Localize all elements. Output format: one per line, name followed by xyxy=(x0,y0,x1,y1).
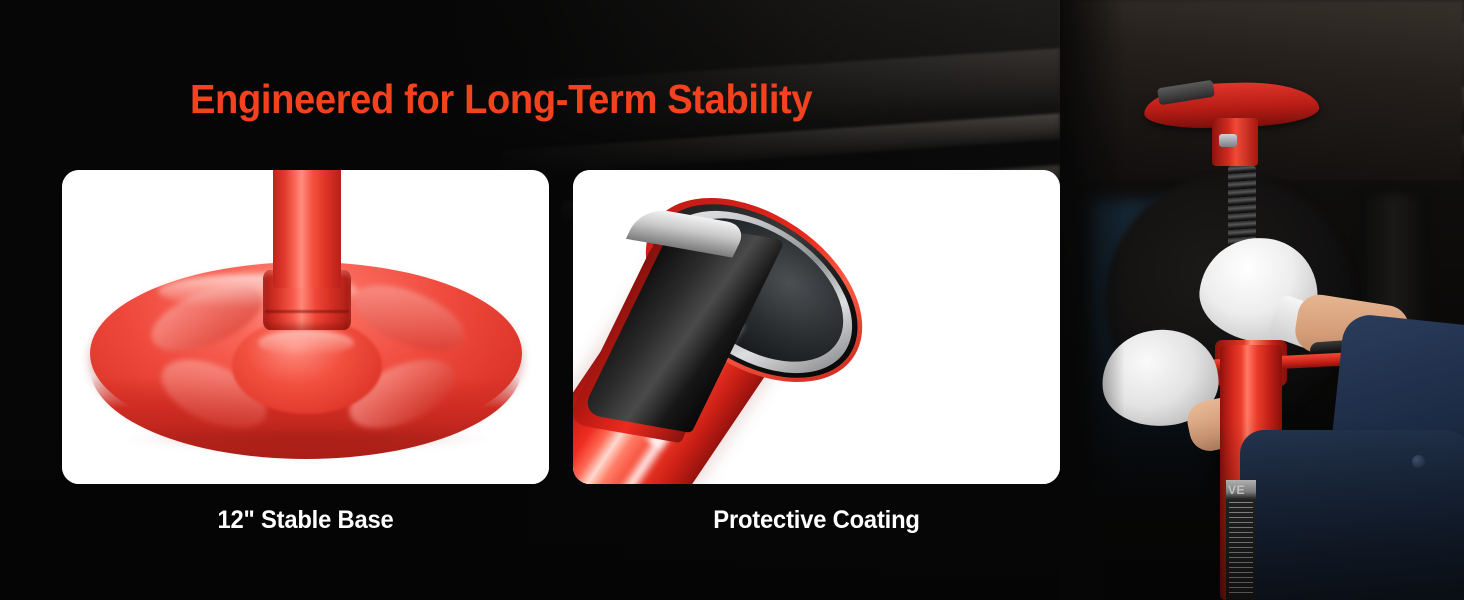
product-label-fine-print xyxy=(1229,502,1253,594)
feature-card-stable-base xyxy=(62,170,549,484)
support-post-collar-seam xyxy=(265,310,349,313)
base-plate-contact-shadow xyxy=(122,426,492,452)
tube-cutaway-image xyxy=(573,170,1060,484)
mechanic-shirt-button xyxy=(1412,455,1425,468)
support-post-tube xyxy=(273,170,341,288)
product-feature-banner: Engineered for Long-Term Stability xyxy=(0,0,1464,600)
feature-caption-stable-base: 12" Stable Base xyxy=(74,506,537,535)
mechanic-shirt-body xyxy=(1240,430,1464,600)
feature-caption-protective-coating: Protective Coating xyxy=(585,506,1048,535)
lifestyle-photo-mechanic: VE xyxy=(1060,0,1464,600)
base-plate-image xyxy=(62,170,549,484)
base-plate-hub-highlight xyxy=(258,330,354,356)
feature-card-protective-coating xyxy=(573,170,1060,484)
product-brand-text: VE xyxy=(1228,483,1254,497)
page-title: Engineered for Long-Term Stability xyxy=(190,79,812,120)
jack-stand-bolt xyxy=(1219,134,1237,147)
